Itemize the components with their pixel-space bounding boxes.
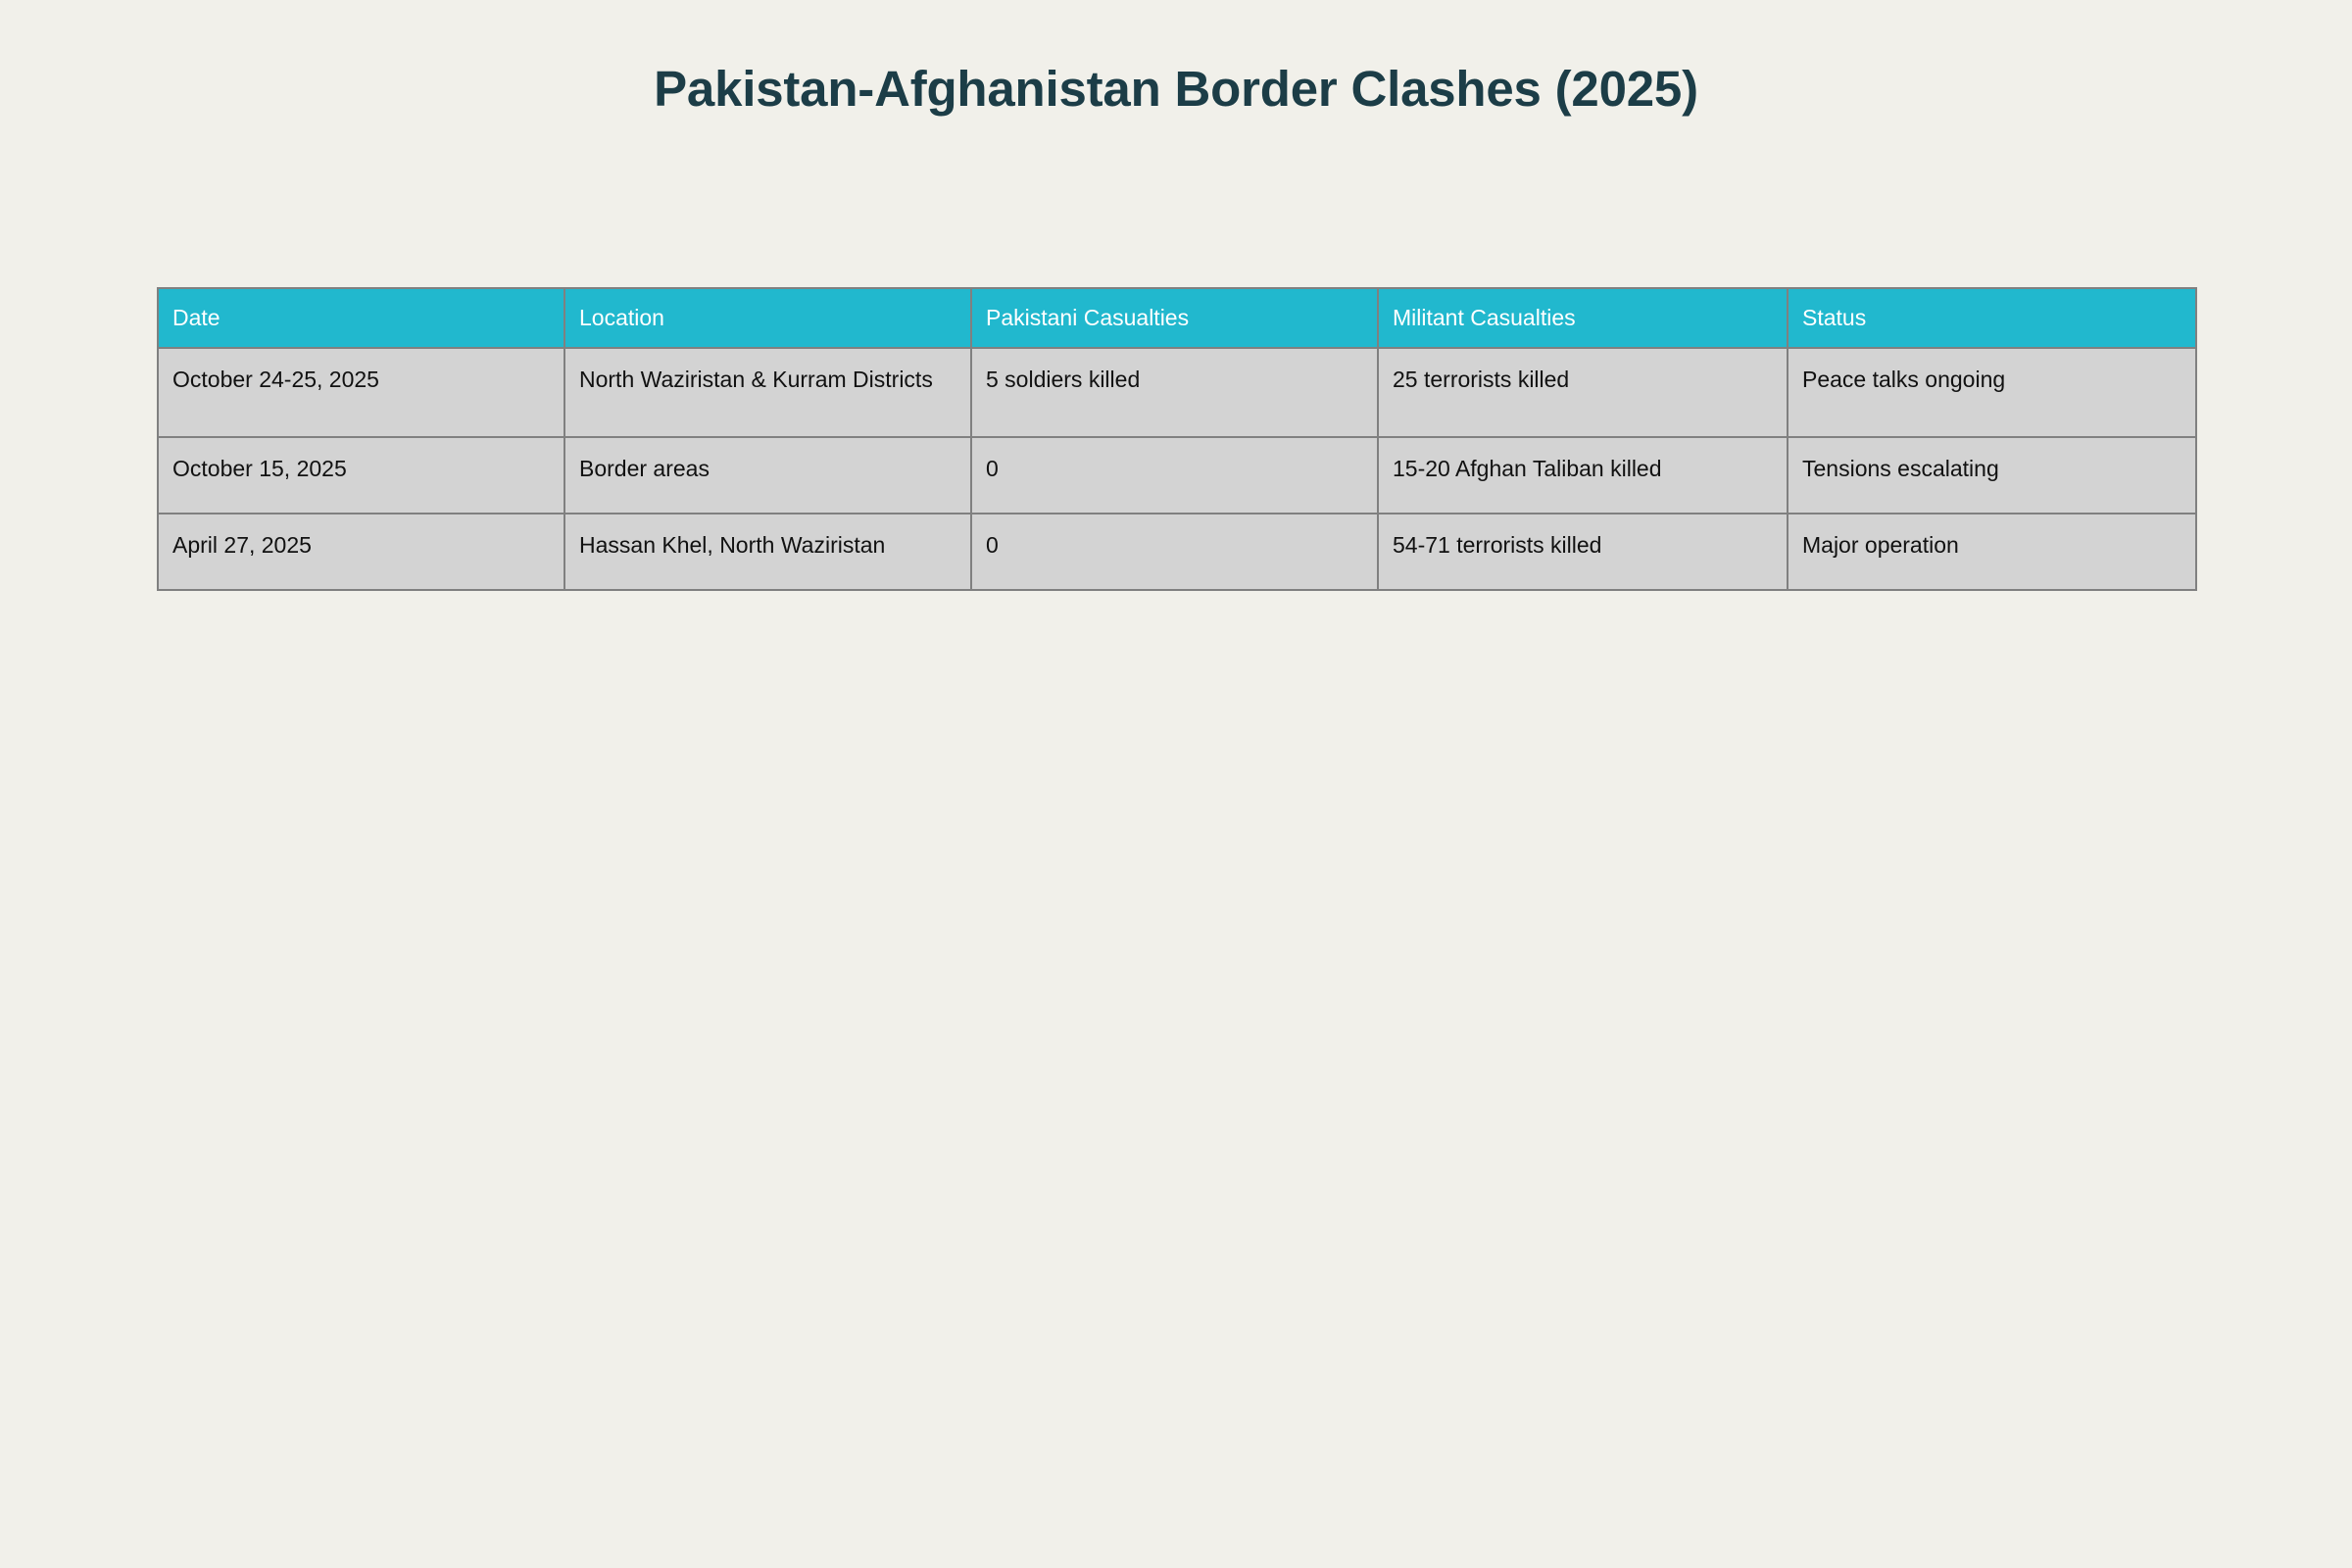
page-title: Pakistan-Afghanistan Border Clashes (202… (0, 59, 2352, 119)
table-header-row: Date Location Pakistani Casualties Milit… (158, 288, 2196, 348)
cell-pakistani-casualties: 0 (971, 514, 1378, 590)
cell-date: April 27, 2025 (158, 514, 564, 590)
column-header-date[interactable]: Date (158, 288, 564, 348)
cell-militant-casualties: 15-20 Afghan Taliban killed (1378, 437, 1788, 514)
cell-status: Tensions escalating (1788, 437, 2196, 514)
table-container: Date Location Pakistani Casualties Milit… (157, 287, 2195, 591)
cell-status: Peace talks ongoing (1788, 348, 2196, 437)
column-header-status[interactable]: Status (1788, 288, 2196, 348)
column-header-location[interactable]: Location (564, 288, 971, 348)
table-row: October 15, 2025 Border areas 0 15-20 Af… (158, 437, 2196, 514)
cell-date: October 15, 2025 (158, 437, 564, 514)
table-row: April 27, 2025 Hassan Khel, North Waziri… (158, 514, 2196, 590)
table-row: October 24-25, 2025 North Waziristan & K… (158, 348, 2196, 437)
page-root: Pakistan-Afghanistan Border Clashes (202… (0, 0, 2352, 1568)
cell-status: Major operation (1788, 514, 2196, 590)
table-body: October 24-25, 2025 North Waziristan & K… (158, 348, 2196, 590)
cell-militant-casualties: 54-71 terrorists killed (1378, 514, 1788, 590)
cell-pakistani-casualties: 0 (971, 437, 1378, 514)
column-header-militant-casualties[interactable]: Militant Casualties (1378, 288, 1788, 348)
border-clashes-table: Date Location Pakistani Casualties Milit… (157, 287, 2197, 591)
column-header-pakistani-casualties[interactable]: Pakistani Casualties (971, 288, 1378, 348)
cell-militant-casualties: 25 terrorists killed (1378, 348, 1788, 437)
cell-pakistani-casualties: 5 soldiers killed (971, 348, 1378, 437)
table-header: Date Location Pakistani Casualties Milit… (158, 288, 2196, 348)
cell-location: North Waziristan & Kurram Districts (564, 348, 971, 437)
cell-location: Border areas (564, 437, 971, 514)
cell-location: Hassan Khel, North Waziristan (564, 514, 971, 590)
cell-date: October 24-25, 2025 (158, 348, 564, 437)
